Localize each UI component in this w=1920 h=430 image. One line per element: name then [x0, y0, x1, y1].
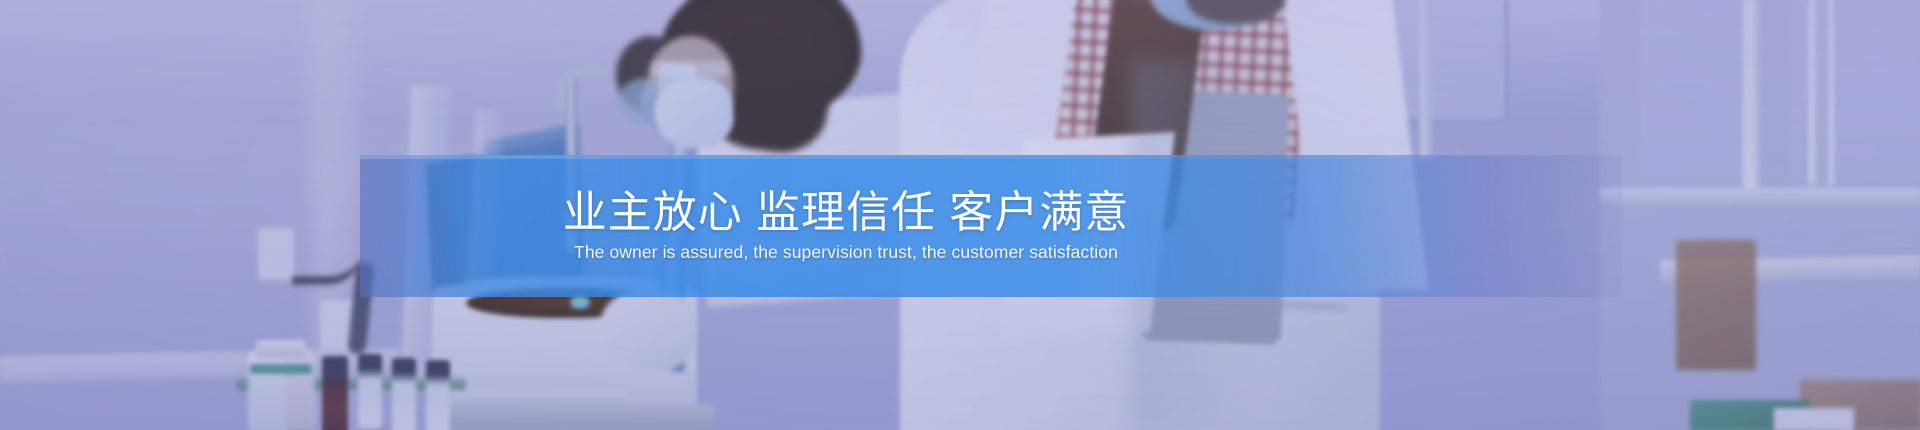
window-sill: [1600, 188, 1920, 204]
window-mullion-2: [1808, 0, 1817, 185]
centrifuge-indicator: [570, 296, 590, 309]
window-mullion-3: [1828, 0, 1835, 185]
cardboard-box-1: [1676, 240, 1756, 370]
gloved-hand-lower: [600, 290, 696, 370]
slogan-text-block: 业主放心 监理信任 客户满意 The owner is assured, the…: [360, 155, 1622, 297]
white-tray: [1774, 408, 1854, 430]
bench-surface: [424, 404, 714, 430]
sample-vial-4: [392, 358, 416, 430]
cabinet-rail: [1420, 0, 1432, 160]
sample-vial-3: [358, 354, 382, 428]
sample-vial-2: [322, 356, 348, 430]
reagent-bottle-cap: [256, 340, 306, 358]
slogan-headline: 业主放心 监理信任 客户满意: [563, 188, 1129, 237]
window-pane-left: [1640, 0, 1750, 190]
slogan-subtitle: The owner is assured, the supervision tr…: [574, 241, 1118, 264]
window-mullion-1: [1742, 0, 1760, 200]
reagent-bottle-label: [250, 364, 312, 374]
hero-banner: 业主放心 监理信任 客户满意 The owner is assured, the…: [0, 0, 1920, 430]
power-socket-upper: [258, 228, 294, 280]
reagent-bottle: [248, 350, 314, 430]
sample-vial-5: [426, 360, 450, 430]
